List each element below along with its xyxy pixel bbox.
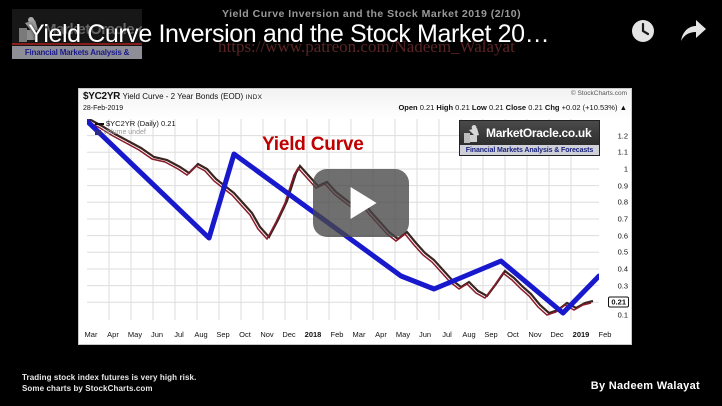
chart-description: Yield Curve - 2 Year Bonds (EOD) bbox=[122, 92, 243, 101]
chart-ohlc: Open 0.21 High 0.21 Low 0.21 Close 0.21 … bbox=[398, 103, 627, 113]
chart-quote-line: 28-Feb-2019 Open 0.21 High 0.21 Low 0.21… bbox=[83, 103, 627, 114]
y-tick: 0.5 bbox=[618, 248, 628, 257]
stockcharts-credit: © StockCharts.com bbox=[571, 90, 627, 97]
x-tick: Nov bbox=[260, 330, 273, 339]
x-tick-year: 2018 bbox=[305, 330, 322, 339]
x-tick: Aug bbox=[194, 330, 207, 339]
player-top-actions[interactable] bbox=[630, 18, 708, 44]
y-tick: 0.9 bbox=[618, 181, 628, 190]
youtube-video-player[interactable]: © StockCharts.com $YC2YR Yield Curve - 2… bbox=[0, 0, 722, 406]
x-tick: May bbox=[396, 330, 410, 339]
x-tick: Jun bbox=[151, 330, 163, 339]
y-tick: 0.1 bbox=[618, 311, 628, 320]
high-label: High bbox=[436, 103, 453, 112]
chg-value: +0.02 (+10.53%) bbox=[562, 103, 618, 112]
risk-disclaimer: Trading stock index futures is very high… bbox=[22, 372, 196, 394]
x-tick: Jul bbox=[442, 330, 452, 339]
x-tick: Apr bbox=[375, 330, 387, 339]
open-label: Open bbox=[398, 103, 417, 112]
x-tick: Dec bbox=[282, 330, 295, 339]
marketoracle-badge-name: MarketOracle.co.uk bbox=[486, 126, 591, 140]
y-tick: 0.8 bbox=[618, 198, 628, 207]
x-tick: Aug bbox=[462, 330, 475, 339]
low-label: Low bbox=[472, 103, 487, 112]
x-tick: Oct bbox=[239, 330, 251, 339]
legend-series-row: $YC2YR (Daily) 0.21 bbox=[95, 119, 176, 128]
legend-volume-row: Volume undef bbox=[95, 128, 176, 137]
chart-y-axis: 1.2 1.1 1 0.9 0.8 0.7 0.6 0.5 0.4 0.3 0.… bbox=[601, 119, 629, 320]
chart-x-axis: Mar Apr May Jun Jul Aug Sep Oct Nov Dec … bbox=[87, 328, 599, 342]
close-value: 0.21 bbox=[528, 103, 543, 112]
chart-exchange: INDX bbox=[246, 94, 263, 101]
x-tick: Mar bbox=[353, 330, 366, 339]
x-tick: Jun bbox=[419, 330, 431, 339]
chart-symbol: $YC2YR bbox=[83, 91, 120, 102]
x-tick-year: 2019 bbox=[573, 330, 590, 339]
chart-header: © StockCharts.com $YC2YR Yield Curve - 2… bbox=[79, 89, 631, 119]
video-overlay-subtitle: Yield Curve Inversion and the Stock Mark… bbox=[222, 8, 521, 20]
seated-figure-icon bbox=[460, 121, 486, 145]
chart-date: 28-Feb-2019 bbox=[83, 104, 123, 114]
y-tick: 0.3 bbox=[618, 281, 628, 290]
open-value: 0.21 bbox=[420, 103, 435, 112]
share-arrow-icon[interactable] bbox=[678, 18, 708, 44]
marketoracle-chart-badge: MarketOracle.co.uk Financial Markets Ana… bbox=[459, 120, 600, 156]
legend-volume-label: Volume undef bbox=[103, 129, 146, 136]
y-tick: 0.6 bbox=[618, 231, 628, 240]
close-label: Close bbox=[506, 103, 526, 112]
chg-up-arrow-icon: ▲ bbox=[620, 103, 627, 112]
y-tick: 1.2 bbox=[618, 131, 628, 140]
x-tick: Sep bbox=[484, 330, 497, 339]
disclaimer-line-1: Trading stock index futures is very high… bbox=[22, 372, 196, 383]
x-tick: Sep bbox=[216, 330, 229, 339]
x-tick: Oct bbox=[507, 330, 519, 339]
low-value: 0.21 bbox=[489, 103, 504, 112]
marketoracle-badge-top: MarketOracle.co.uk bbox=[460, 121, 599, 145]
current-price-tag: 0.21 bbox=[608, 297, 629, 308]
play-button[interactable] bbox=[313, 169, 409, 237]
marketoracle-badge-tagline: Financial Markets Analysis & Forecasts bbox=[460, 145, 599, 156]
disclaimer-line-2: Some charts by StockCharts.com bbox=[22, 383, 196, 394]
x-tick: May bbox=[128, 330, 142, 339]
chg-label: Chg bbox=[545, 103, 560, 112]
high-value: 0.21 bbox=[455, 103, 470, 112]
y-tick: 1 bbox=[624, 165, 628, 174]
x-tick: Feb bbox=[331, 330, 344, 339]
x-tick: Feb bbox=[599, 330, 612, 339]
legend-line-icon bbox=[95, 123, 104, 125]
x-tick: Mar bbox=[85, 330, 98, 339]
y-tick: 1.1 bbox=[618, 148, 628, 157]
x-tick: Dec bbox=[550, 330, 563, 339]
chart-legend: $YC2YR (Daily) 0.21 Volume undef bbox=[95, 119, 176, 137]
play-triangle-icon bbox=[351, 187, 377, 219]
yield-curve-annotation: Yield Curve bbox=[262, 134, 364, 156]
x-tick: Nov bbox=[528, 330, 541, 339]
video-title[interactable]: Yield Curve Inversion and the Stock Mark… bbox=[28, 20, 549, 49]
chart-title-line: $YC2YR Yield Curve - 2 Year Bonds (EOD) … bbox=[83, 91, 627, 103]
legend-volume-icon bbox=[95, 130, 101, 135]
x-tick: Apr bbox=[107, 330, 119, 339]
y-tick: 0.4 bbox=[618, 265, 628, 274]
author-byline: By Nadeem Walayat bbox=[591, 380, 700, 392]
y-tick: 0.7 bbox=[618, 215, 628, 224]
watch-later-clock-icon[interactable] bbox=[630, 18, 656, 44]
legend-series-label: $YC2YR (Daily) 0.21 bbox=[106, 119, 176, 128]
x-tick: Jul bbox=[174, 330, 184, 339]
